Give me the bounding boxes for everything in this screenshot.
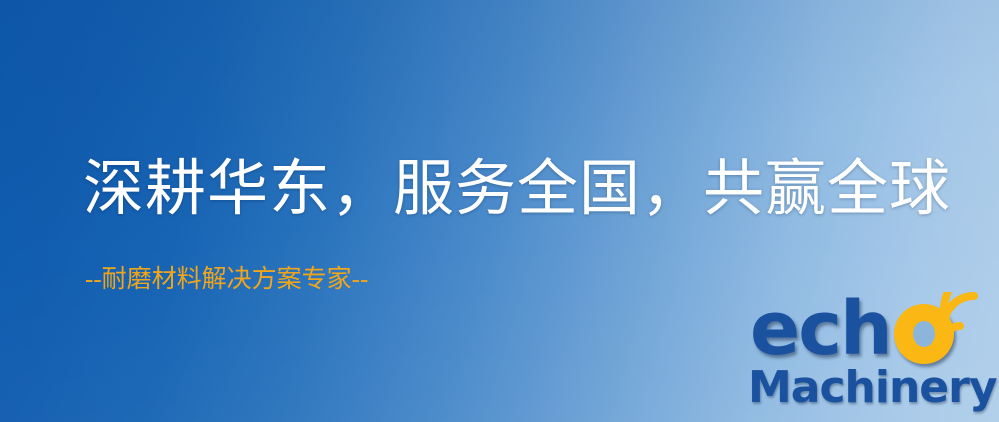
echo-machinery-logo[interactable]: ech Machinery® bbox=[744, 296, 999, 422]
promo-banner: 深耕华东，服务全国，共赢全球 --耐磨材料解决方案专家-- ech M bbox=[0, 0, 999, 422]
banner-subheadline: --耐磨材料解决方案专家-- bbox=[85, 265, 368, 295]
banner-headline: 深耕华东，服务全国，共赢全球 bbox=[83, 155, 951, 225]
logo-machinery-text: Machinery bbox=[748, 362, 997, 413]
signal-wave-icon bbox=[940, 292, 999, 350]
logo-bottom-row: Machinery® bbox=[748, 364, 999, 412]
logo-echo-text: ech bbox=[750, 292, 891, 366]
logo-o-counter bbox=[913, 321, 935, 347]
logo-top-row: ech bbox=[744, 296, 999, 368]
